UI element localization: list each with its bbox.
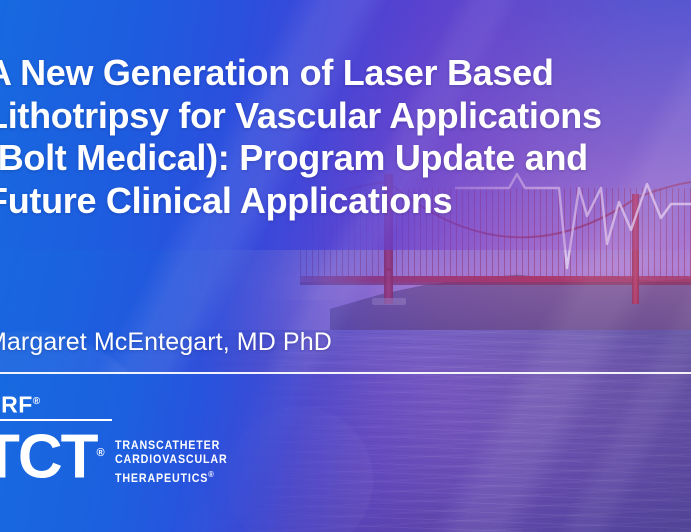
expansion-line-2: CARDIOVASCULAR (115, 453, 228, 468)
registered-trademark-icon: ® (33, 396, 41, 407)
speaker-name: Margaret McEntegart, MD PhD (0, 328, 332, 357)
logo-rule (0, 419, 112, 421)
crf-text: CRF (0, 392, 33, 418)
crf-tct-logo: CRF® TCT® TRANSCATHETER CARDIOVASCULAR T… (0, 390, 236, 487)
tct-text: TCT (0, 422, 97, 491)
expansion-line-3-row: THERAPEUTICS® (115, 468, 228, 486)
crf-wordmark: CRF® (0, 390, 236, 417)
tct-wordmark: TCT® (0, 423, 105, 488)
expansion-line-3: THERAPEUTICS (115, 472, 208, 484)
registered-trademark-icon: ® (97, 447, 105, 459)
slide-content: A New Generation of Laser Based Lithotri… (0, 0, 691, 532)
expansion-line-1: TRANSCATHETER (115, 439, 228, 454)
registered-trademark-icon: ® (208, 470, 214, 479)
presentation-title-slide: A New Generation of Laser Based Lithotri… (0, 0, 691, 532)
tct-expansion: TRANSCATHETER CARDIOVASCULAR THERAPEUTIC… (115, 439, 228, 486)
horizontal-divider (0, 372, 691, 374)
slide-title: A New Generation of Laser Based Lithotri… (0, 52, 691, 222)
